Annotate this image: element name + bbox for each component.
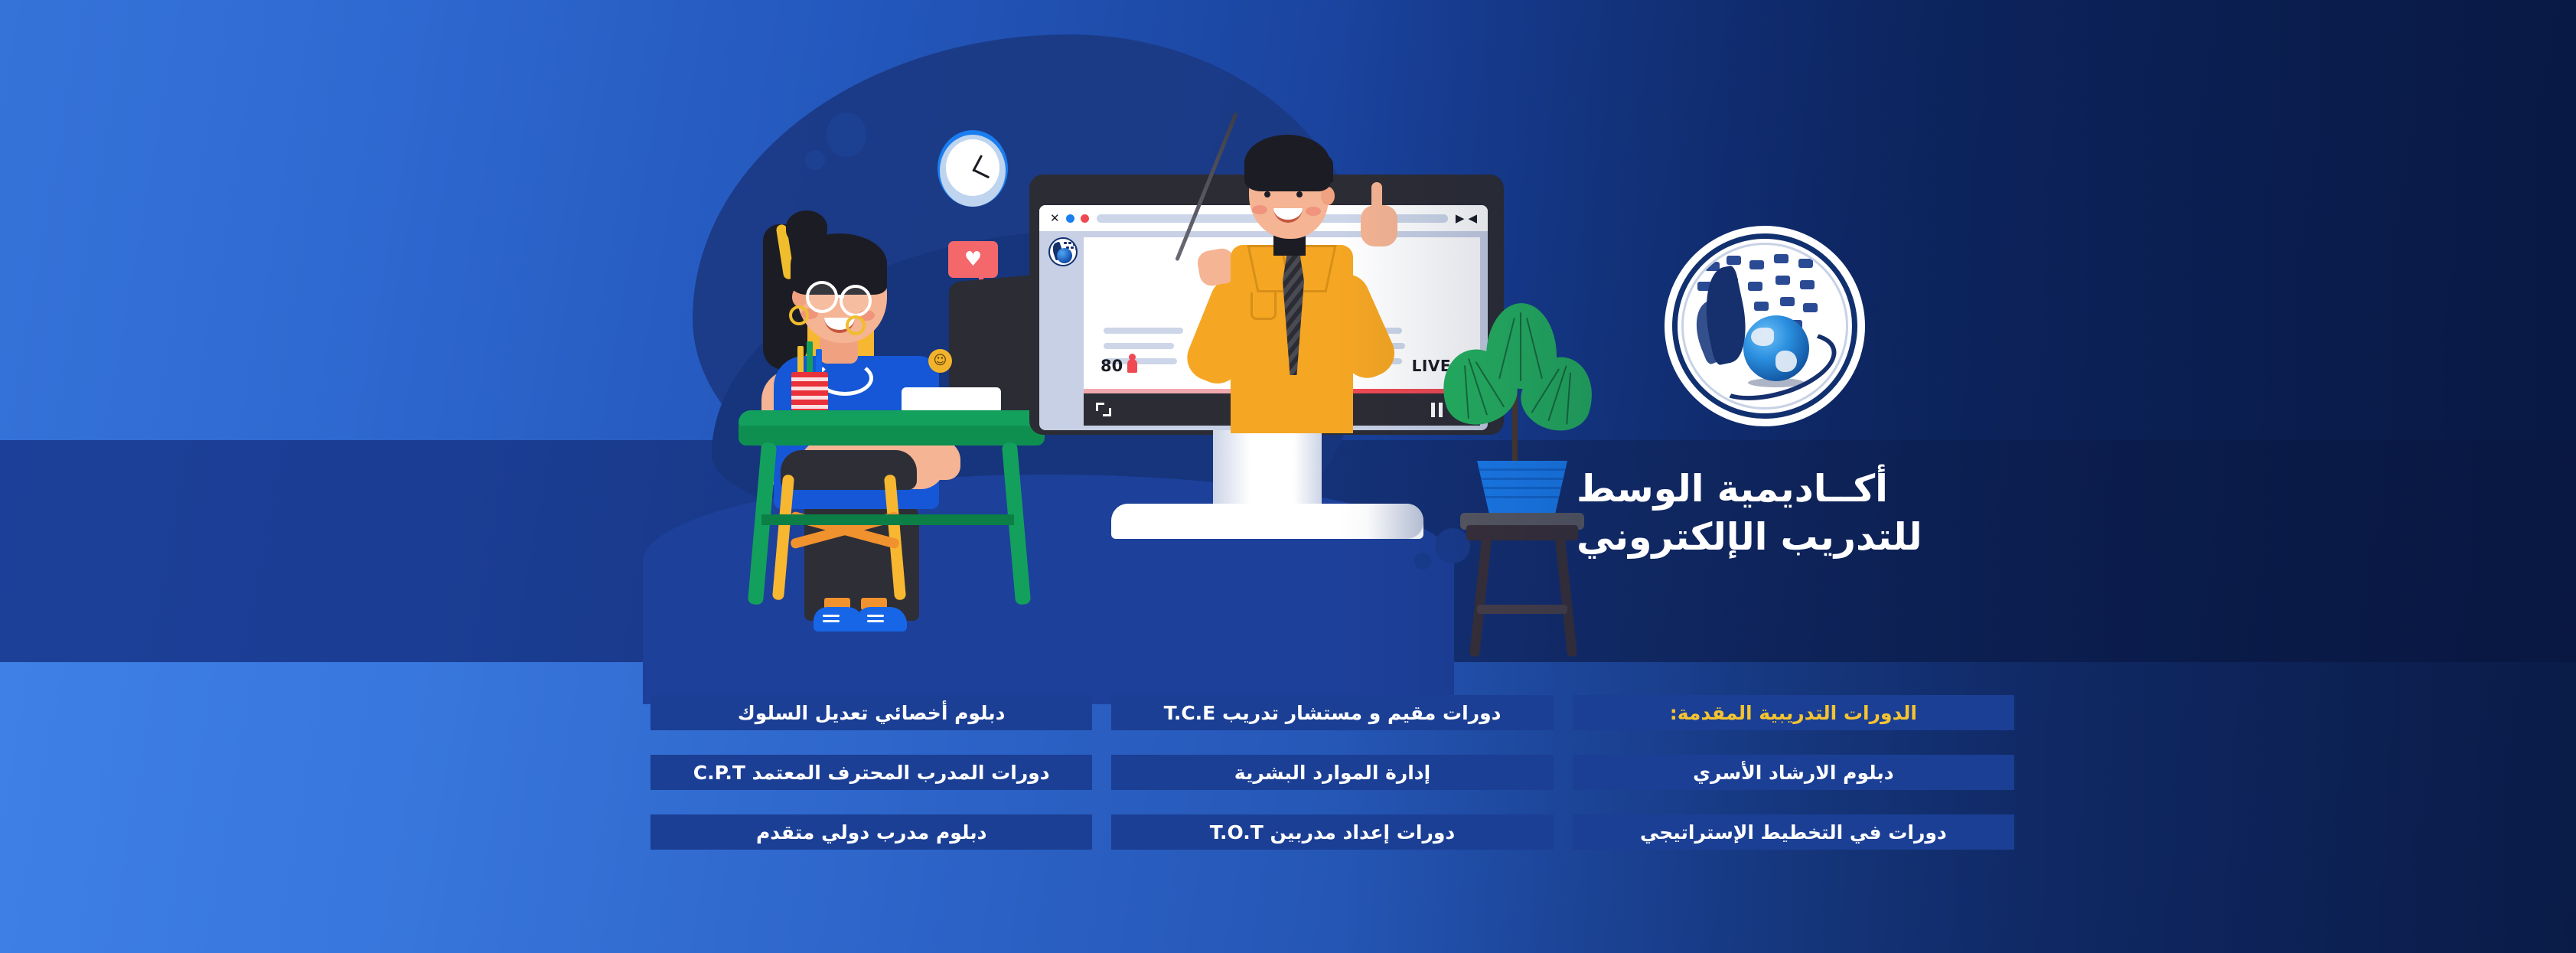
smiley-sticker-icon: ☺ xyxy=(928,349,952,373)
monitor-stand-neck xyxy=(1213,430,1322,508)
window-dot-red[interactable] xyxy=(1081,214,1089,223)
course-list: الدورات التدريبية المقدمة: دورات مقيم و … xyxy=(651,695,2014,850)
course-chip[interactable]: إدارة الموارد البشرية xyxy=(1111,755,1553,790)
viewer-count: 80 xyxy=(1101,357,1137,375)
course-chip-heading[interactable]: الدورات التدريبية المقدمة: xyxy=(1573,695,2014,730)
potted-plant-on-stool xyxy=(1433,299,1601,551)
course-row: الدورات التدريبية المقدمة: دورات مقيم و … xyxy=(651,695,2014,730)
course-chip[interactable]: دبلوم الارشاد الأسري xyxy=(1573,755,2014,790)
viewer-count-value: 80 xyxy=(1101,357,1123,375)
standing-instructor-figure xyxy=(1194,135,1439,433)
banner-canvas: ♥ ☺ xyxy=(0,0,2576,953)
course-chip[interactable]: دبلوم مدرب دولي متقدم xyxy=(651,814,1092,850)
course-row: دورات في التخطيط الإستراتيجي دورات إعداد… xyxy=(651,814,2014,850)
nav-arrows[interactable]: ◀ ▶ xyxy=(1456,213,1477,224)
academy-logo-watermark xyxy=(1048,237,1078,266)
course-chip[interactable]: دورات مقيم و مستشار تدريب T.C.E xyxy=(1111,695,1553,730)
course-chip[interactable]: دورات المدرب المحترف المعتمد C.P.T xyxy=(651,755,1092,790)
decorative-dot-right-small xyxy=(1414,553,1431,570)
academy-title: أكــاديمية الوسط للتدريب الإلكتروني xyxy=(1577,465,1974,561)
course-chip[interactable]: دورات إعداد مدربين T.O.T xyxy=(1111,814,1553,850)
academy-title-line1: أكــاديمية الوسط xyxy=(1577,465,1974,514)
course-row: دبلوم الارشاد الأسري إدارة الموارد البشر… xyxy=(651,755,2014,790)
wall-clock-icon xyxy=(937,130,1008,207)
academy-title-line2: للتدريب الإلكتروني xyxy=(1577,514,1974,562)
plant-leaf xyxy=(1486,303,1557,389)
green-desk-edge xyxy=(739,426,1045,445)
stool-rail xyxy=(1477,605,1567,614)
keyboard-icon xyxy=(902,387,1001,413)
course-chip[interactable]: دورات في التخطيط الإستراتيجي xyxy=(1573,814,2014,850)
window-dots: ✕ xyxy=(1050,213,1089,224)
academy-globe-feather-emblem xyxy=(1665,226,1865,426)
person-icon xyxy=(1127,359,1137,373)
course-chip[interactable]: دبلوم أخصائي تعديل السلوك xyxy=(651,695,1092,730)
close-icon[interactable]: ✕ xyxy=(1050,213,1060,224)
pencil-cup-icon xyxy=(791,372,828,412)
decorative-dot-small xyxy=(805,150,825,170)
plant-pot xyxy=(1477,461,1567,516)
back-icon[interactable]: ◀ xyxy=(1468,213,1477,224)
decorative-dot-large xyxy=(827,113,866,157)
forward-icon[interactable]: ▶ xyxy=(1456,213,1465,224)
fullscreen-icon[interactable] xyxy=(1096,403,1111,416)
chair-seat xyxy=(781,450,917,490)
monitor-base-shadow xyxy=(1111,504,1423,539)
window-dot-blue[interactable] xyxy=(1066,214,1074,223)
desk-cross-rail xyxy=(761,514,1014,525)
